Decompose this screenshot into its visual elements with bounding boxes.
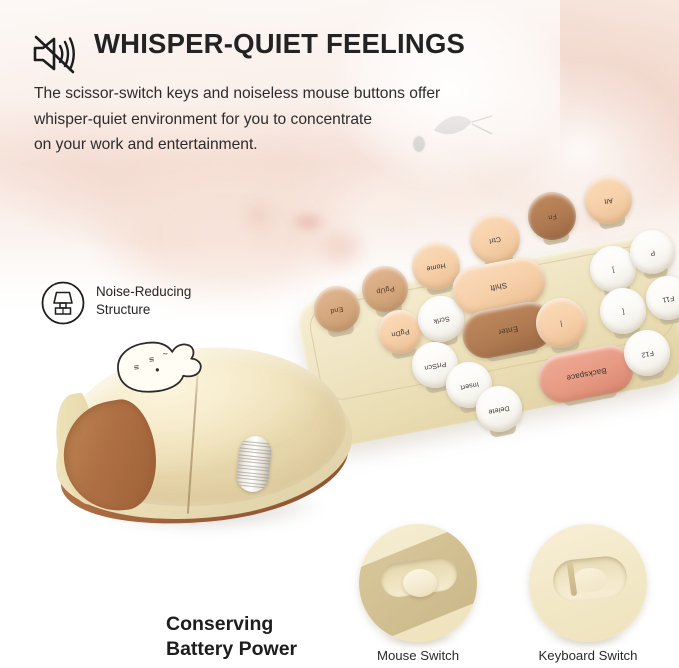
keyboard-switch-pad	[573, 568, 607, 592]
conserving-battery-power-heading: Conserving Battery Power	[166, 612, 366, 662]
mouse-switch-button	[403, 569, 437, 597]
keycap--[interactable]: |	[532, 294, 591, 353]
keyboard-switch-disc	[529, 524, 647, 642]
noise-reducing-structure-badge: Noise-Reducing Structure	[41, 280, 251, 336]
keycap-label: Ctrl	[489, 234, 502, 243]
svg-text:≡: ≡	[133, 362, 139, 373]
keycap-p[interactable]: P	[626, 226, 678, 278]
mute-speaker-icon	[31, 32, 77, 76]
keycap-label: Enter	[497, 324, 518, 336]
keycap-label: [	[621, 307, 624, 314]
keycap-label: Shift	[490, 280, 508, 291]
keycap-label: Backspace	[565, 366, 607, 382]
mouse-scroll-wheel[interactable]	[235, 434, 273, 493]
noise-badge-label: Noise-Reducing Structure	[96, 283, 191, 318]
keycap-label: Scrlk	[432, 314, 450, 324]
keycap-label: P	[649, 248, 655, 256]
keycap-switch-icon	[41, 281, 85, 325]
keycap-alt[interactable]: Alt	[580, 172, 636, 228]
keycap-label: Delete	[488, 404, 510, 415]
svg-text:~: ~	[162, 349, 168, 360]
keycap-end[interactable]: End	[310, 282, 364, 336]
headline-body-line-2: whisper-quiet environment for you to con…	[34, 107, 554, 133]
keycap-top: Fn	[524, 188, 580, 244]
headline-body: The scissor-switch keys and noiseless mo…	[34, 81, 554, 158]
keycap-label: Fn	[547, 212, 557, 221]
battery-heading-line-2: Battery Power	[166, 637, 366, 662]
keycap-label: PgDn	[390, 327, 409, 337]
keycap-top: |	[532, 294, 591, 353]
noise-badge-label-line-2: Structure	[96, 301, 191, 319]
keycap-f12[interactable]: F12	[620, 326, 674, 380]
keyboard-switch-figure: Keyboard Switch	[518, 524, 658, 663]
keycap-label: End	[330, 304, 344, 313]
keycap-label: Alt	[603, 196, 613, 205]
headline-body-line-1: The scissor-switch keys and noiseless mo…	[34, 81, 554, 107]
mouse-switch-figure: Mouse Switch	[348, 524, 488, 663]
cartoon-seal-face-decal: ≡ ≡ ~	[105, 330, 208, 403]
keycap-fn[interactable]: Fn	[524, 188, 580, 244]
keycap-label: Insert	[459, 380, 479, 390]
keycap-label: |	[559, 319, 562, 326]
keycap-delete[interactable]: Delete	[472, 382, 526, 436]
svg-text:≡: ≡	[148, 354, 154, 365]
keycap-label: ]	[611, 265, 614, 272]
keycap-top: End	[310, 282, 364, 336]
mouse-switch-label: Mouse Switch	[348, 648, 488, 663]
keyboard-switch-label: Keyboard Switch	[518, 648, 658, 663]
wireless-mouse: ≡ ≡ ~	[46, 330, 366, 545]
keycap-top: Alt	[580, 172, 636, 228]
battery-heading-line-1: Conserving	[166, 612, 366, 637]
keycap-label: F11	[661, 293, 674, 302]
noise-badge-label-line-1: Noise-Reducing	[96, 283, 191, 301]
keycap-top: F12	[620, 326, 674, 380]
keycap-top: Delete	[472, 382, 526, 436]
keycap-label: PgUp	[375, 284, 394, 294]
keycap-label: Home	[426, 261, 446, 272]
mouse-switch-disc	[359, 524, 477, 642]
headline-title: WHISPER-QUIET FEELINGS	[94, 28, 465, 60]
headline-body-line-3: on your work and entertainment.	[34, 132, 554, 158]
keycap-top: P	[626, 226, 678, 278]
keycap-label: F12	[640, 348, 654, 357]
